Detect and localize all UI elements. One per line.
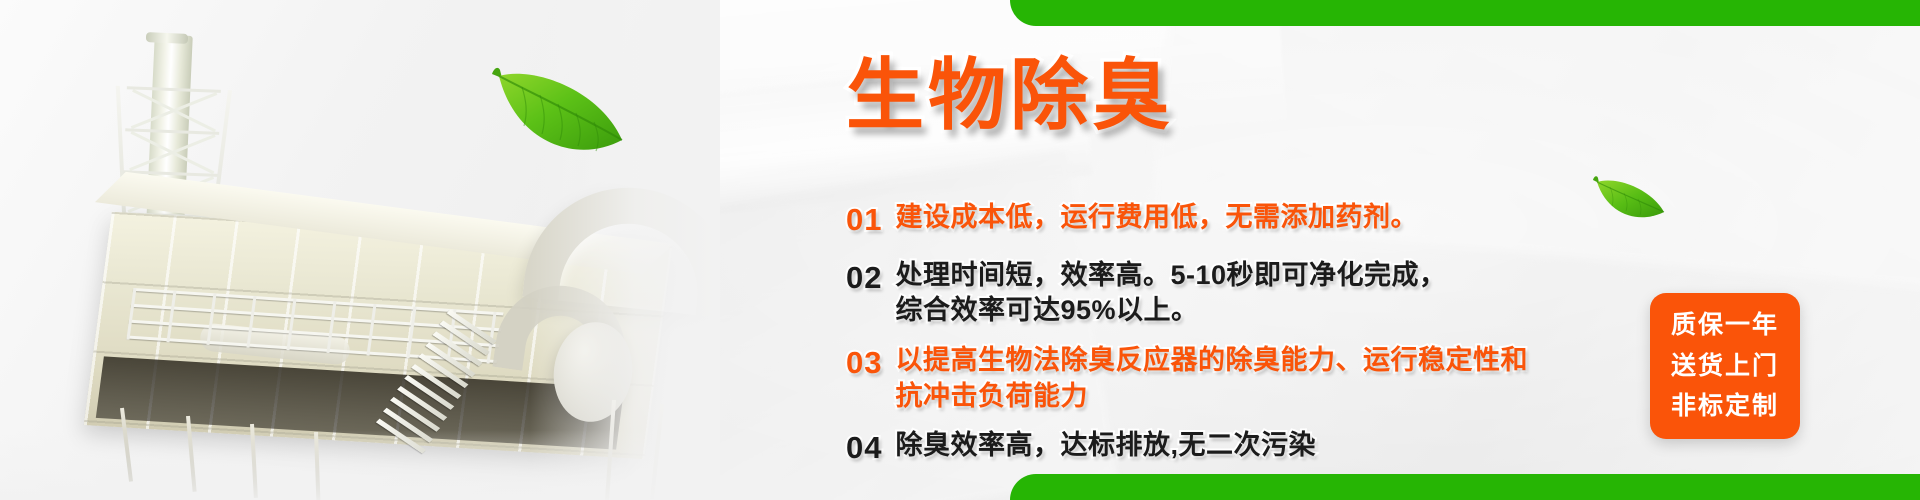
feature-list: 01 建设成本低，运行费用低，无需添加药剂。 02 处理时间短，效率高。5-10… [846,200,1676,480]
feature-text: 以提高生物法除臭反应器的除臭能力、运行稳定性和 抗冲击负荷能力 [895,343,1528,414]
feature-text: 处理时间短，效率高。5-10秒即可净化完成， 综合效率可达95%以上。 [895,258,1446,329]
feature-number: 03 [846,343,882,383]
feature-number: 02 [846,258,882,298]
leaf-icon [482,56,632,176]
page-title: 生物除臭 [846,55,1174,137]
badge-line-delivery: 送货上门 [1671,346,1779,387]
feature-item: 04 除臭效率高，达标排放,无二次污染 [846,428,1676,468]
feature-text: 除臭效率高，达标排放,无二次污染 [895,428,1316,464]
photo-bottom-fade [0,430,720,500]
badge-line-warranty: 质保一年 [1671,305,1779,346]
chimney-cap [146,32,188,44]
badge-line-custom: 非标定制 [1671,386,1779,427]
green-bar-top [1010,0,1920,26]
feature-item: 02 处理时间短，效率高。5-10秒即可净化完成， 综合效率可达95%以上。 [846,258,1676,329]
feature-item: 03 以提高生物法除臭反应器的除臭能力、运行稳定性和 抗冲击负荷能力 [846,343,1676,414]
promotional-banner: 生物除臭 01 建设成本低，运行费用低，无需添加药剂。 02 处理时间短，效率高… [0,0,1920,500]
feature-item: 01 建设成本低，运行费用低，无需添加药剂。 [846,200,1676,240]
feature-number: 04 [846,428,882,468]
feature-text: 建设成本低，运行费用低，无需添加药剂。 [895,200,1418,236]
feature-number: 01 [846,200,882,240]
guarantee-badge[interactable]: 质保一年 送货上门 非标定制 [1650,293,1800,439]
